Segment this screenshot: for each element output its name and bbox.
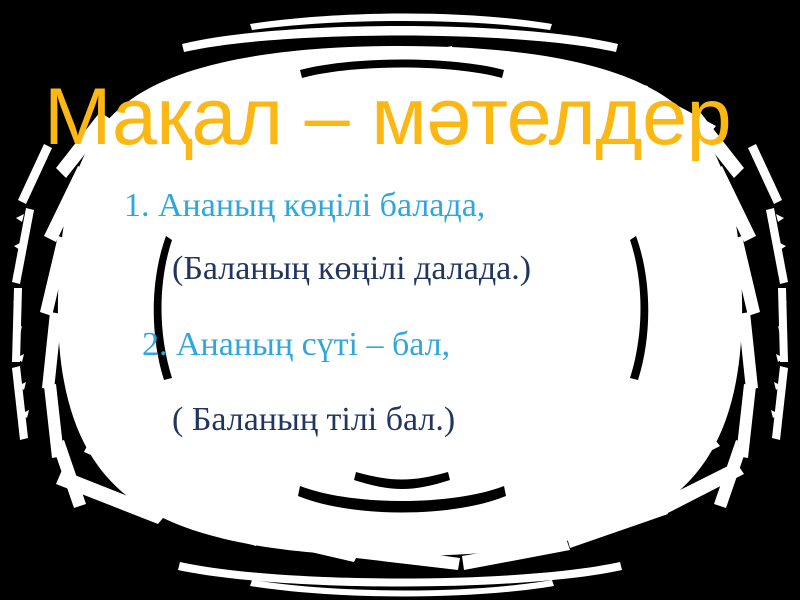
slide-canvas: Мақал – мәтелдер 1. Ананың көңілі балада… <box>0 0 800 600</box>
proverb-1-main: 1. Ананың көңілі балада, <box>124 186 485 226</box>
slide-content: Мақал – мәтелдер 1. Ананың көңілі балада… <box>0 0 800 600</box>
page-title: Мақал – мәтелдер <box>44 74 800 160</box>
proverb-2-main: 2. Ананың сүті – бал, <box>142 325 450 365</box>
proverb-1-parenthetical: (Баланың көңілі далада.) <box>172 249 531 289</box>
proverb-2-parenthetical: ( Баланың тілі бал.) <box>172 400 455 440</box>
